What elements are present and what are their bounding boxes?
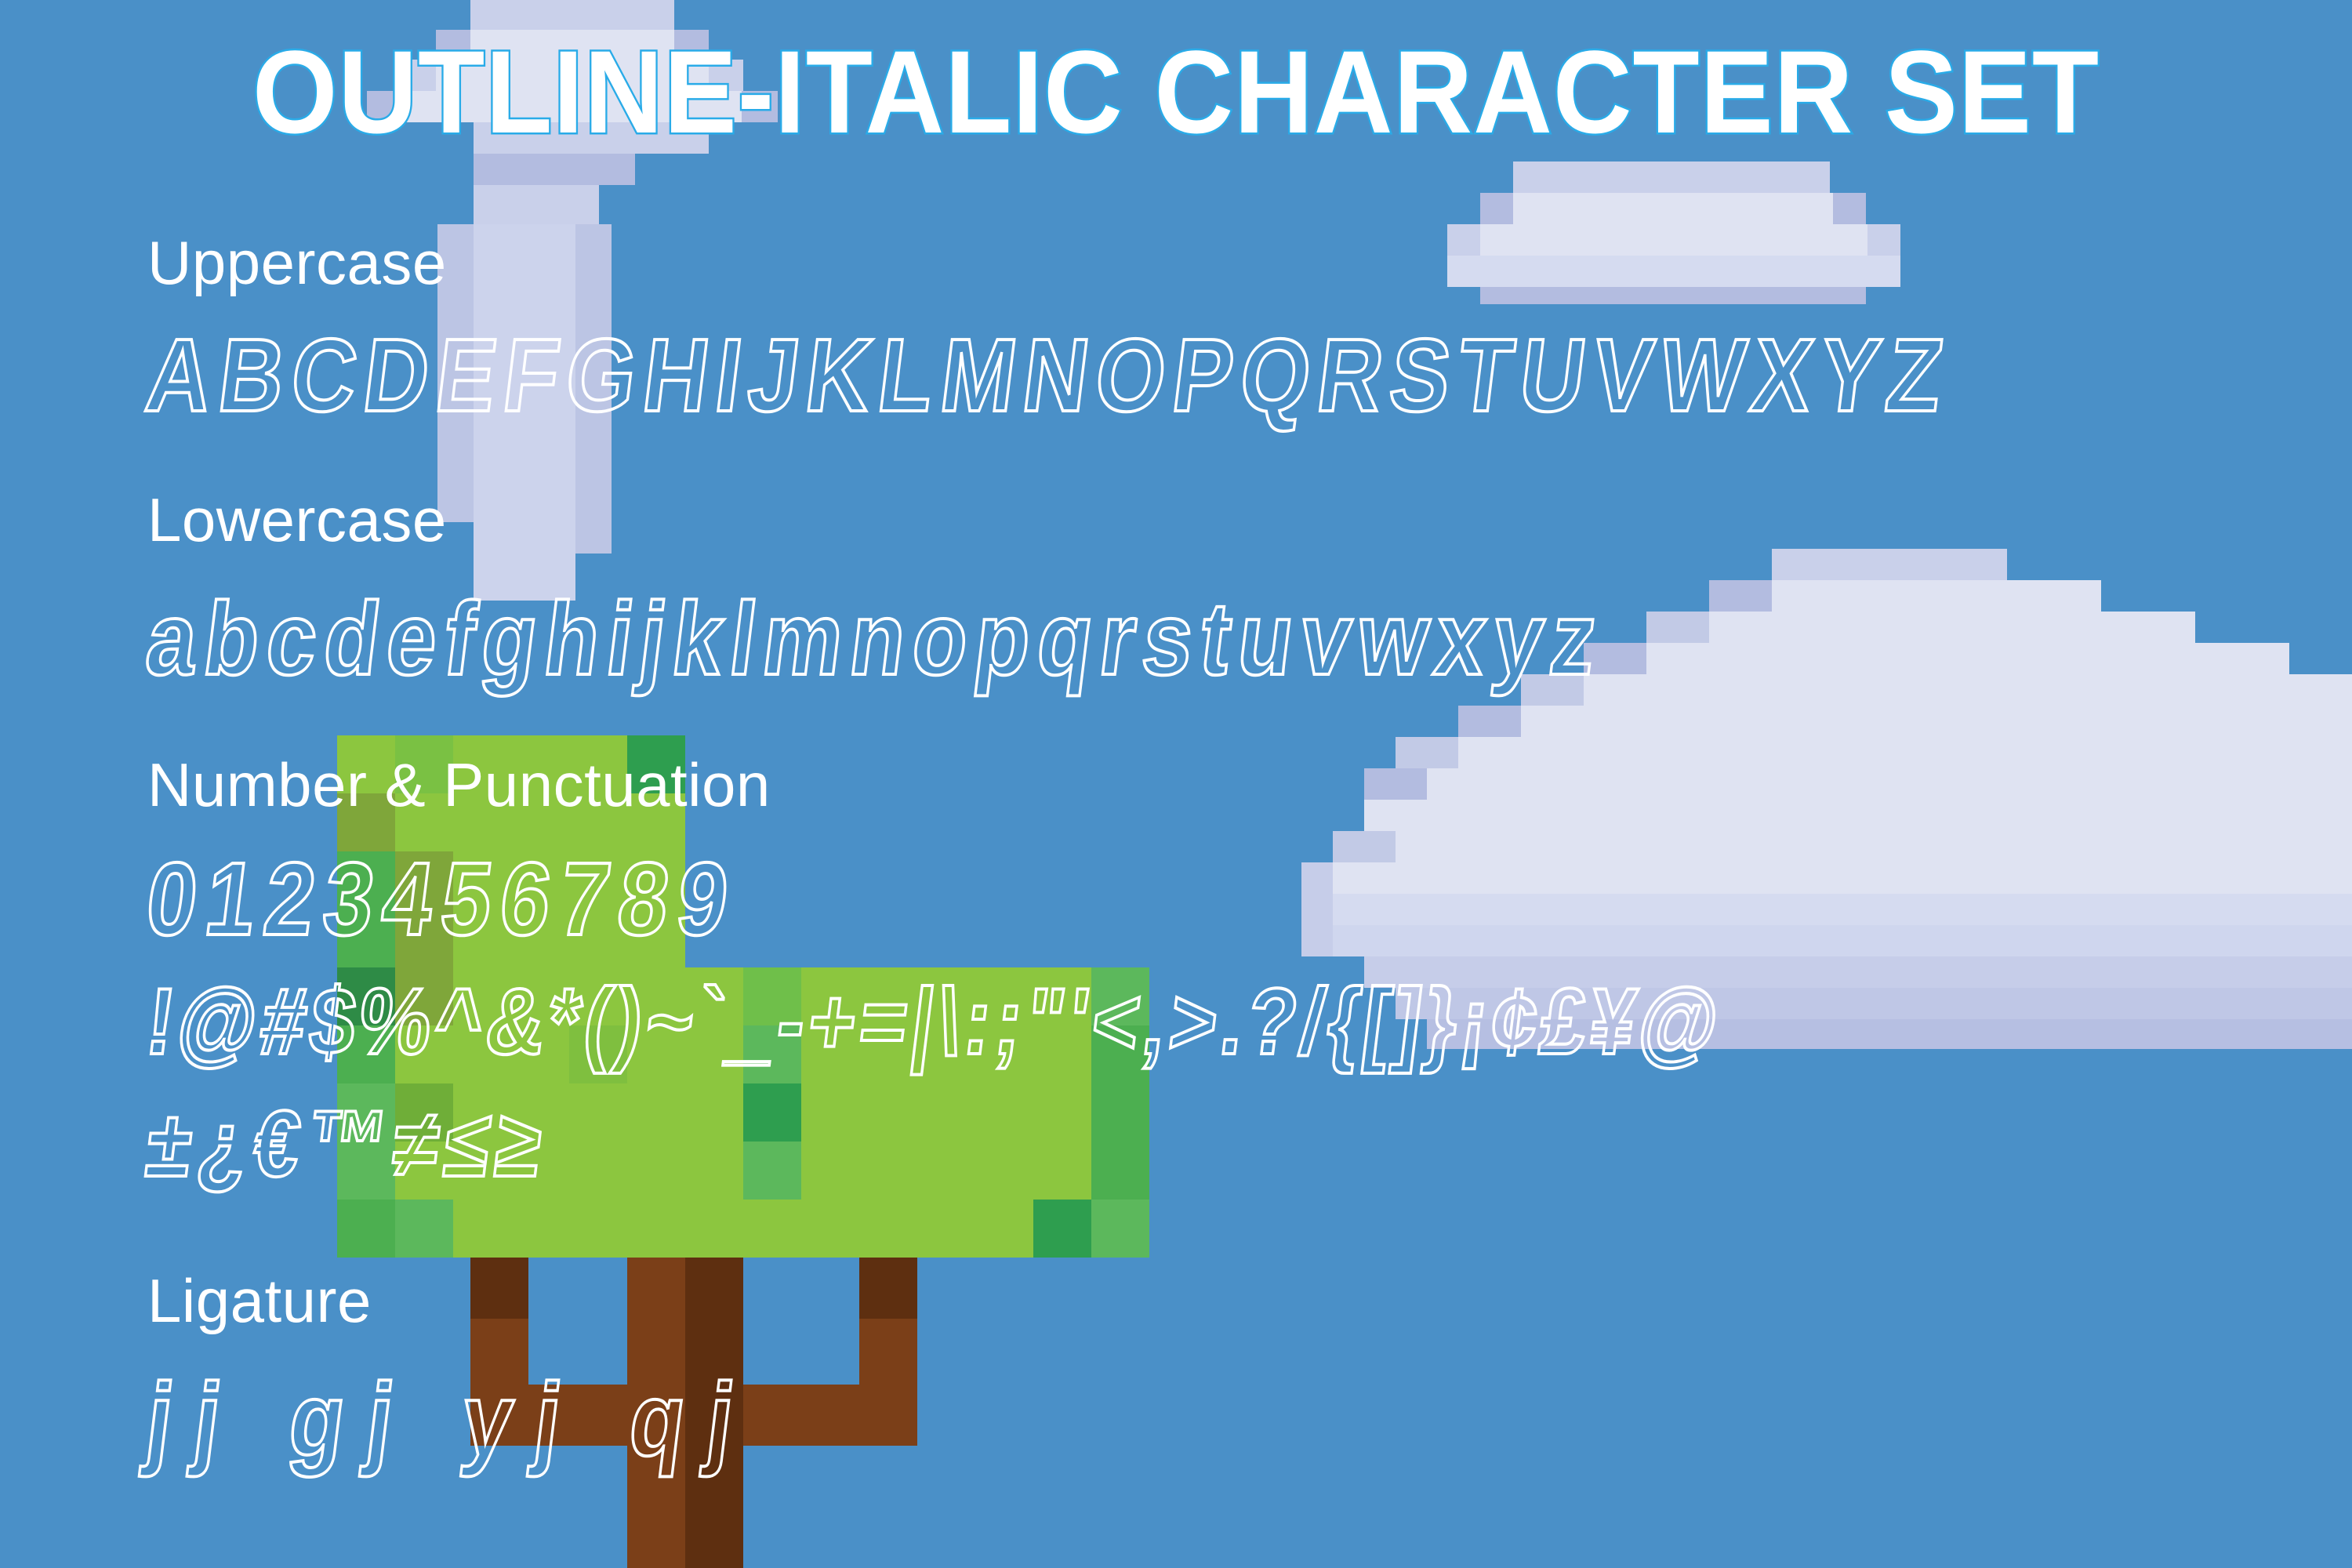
glyph-row-ligature: jj gj yj qj — [140, 1366, 762, 1475]
section-lowercase: Lowercase — [147, 489, 447, 550]
section-label-ligature: Ligature — [147, 1270, 372, 1331]
section-label-uppercase: Uppercase — [147, 232, 447, 293]
glyph-row-uppercase: ABCDEFGHIJKLMNOPQRSTUVWXYZ — [140, 321, 1956, 430]
section-ligature: Ligature — [147, 1270, 372, 1331]
glyph-row-lowercase: abcdefghijklmnopqrstuvwxyz — [140, 585, 1610, 694]
section-label-number-punctuation: Number & Punctuation — [147, 754, 771, 815]
page-title: OUTLINE-ITALIC CHARACTER SET — [82, 33, 2270, 151]
glyph-row-punctuation-1: !@#$%^&*()~`_-+=|\:;"'<,>.?/{[]}¡¢£¥@ — [141, 972, 1728, 1071]
specimen-punctuation-1: !@#$%^&*()~`_-+=|\:;"'<,>.?/{[]}¡¢£¥@ — [147, 972, 1979, 1071]
section-label-lowercase: Lowercase — [147, 489, 447, 550]
section-number-punctuation: Number & Punctuation — [147, 754, 771, 815]
text-layer: OUTLINE-ITALIC CHARACTER SET Uppercase A… — [0, 0, 2352, 1568]
glyph-row-numbers: 0123456789 — [140, 845, 743, 954]
specimen-lowercase: abcdefghijklmnopqrstuvwxyz — [147, 585, 1841, 694]
section-uppercase: Uppercase — [147, 232, 447, 293]
specimen-uppercase: ABCDEFGHIJKLMNOPQRSTUVWXYZ — [147, 321, 2243, 430]
glyph-row-punctuation-2: ±¿€™≠≤≥ — [141, 1094, 554, 1193]
specimen-ligature: jj gj yj qj — [147, 1366, 855, 1475]
specimen-punctuation-2: ±¿€™≠≤≥ — [147, 1094, 612, 1193]
poster-canvas: OUTLINE-ITALIC CHARACTER SET Uppercase A… — [0, 0, 2352, 1568]
specimen-numbers: 0123456789 — [147, 845, 833, 954]
